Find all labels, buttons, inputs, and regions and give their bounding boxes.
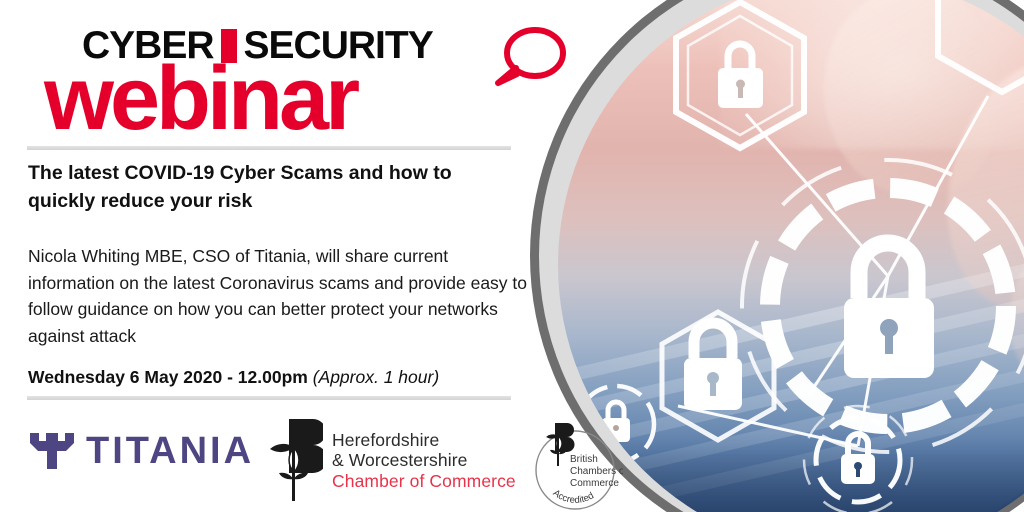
titania-logo: TITANIA bbox=[29, 430, 254, 472]
bcc-accredited-text: Accredited bbox=[551, 488, 596, 506]
body-description: Nicola Whiting MBE, CSO of Titania, will… bbox=[28, 243, 528, 349]
event-datetime: Wednesday 6 May 2020 - 12.00pm (Approx. … bbox=[28, 366, 528, 389]
bcc-line-3: Commerce bbox=[570, 478, 619, 489]
webinar-word: webinar bbox=[44, 54, 356, 144]
padlock-hexagon-lower-icon bbox=[662, 312, 774, 440]
chamber-b-leaf-mark bbox=[267, 417, 323, 501]
chamber-line-1: Herefordshire bbox=[332, 430, 516, 450]
bcc-line-2: Chambers of bbox=[570, 466, 623, 477]
webinar-banner: CYBER SECURITY webinar The latest COVID-… bbox=[0, 0, 1024, 512]
security-icons-overlay bbox=[558, 0, 1024, 512]
content-panel: CYBER SECURITY webinar The latest COVID-… bbox=[0, 0, 565, 512]
webinar-logo-lockup: CYBER SECURITY webinar bbox=[27, 18, 527, 143]
padlock-hexagon-top-icon bbox=[938, 0, 1024, 92]
event-date-main: Wednesday 6 May 2020 - 12.00pm bbox=[28, 367, 308, 387]
divider-top bbox=[27, 146, 511, 150]
speech-bubble-icon bbox=[493, 26, 567, 88]
chamber-line-3: Chamber of Commerce bbox=[332, 471, 516, 491]
chamber-wordmark: Herefordshire & Worcestershire Chamber o… bbox=[332, 417, 516, 491]
divider-bottom bbox=[27, 396, 511, 400]
bcc-accredited-badge: British Chambers of Commerce Accredited bbox=[527, 418, 623, 512]
chamber-line-2: & Worcestershire bbox=[332, 450, 516, 470]
bcc-line-1: British bbox=[570, 454, 598, 465]
laptop-photo bbox=[558, 0, 1024, 512]
event-duration: (Approx. 1 hour) bbox=[313, 367, 439, 387]
padlock-hexagon-icon bbox=[676, 2, 804, 148]
partner-logos: TITANIA Herefordshire & Worcestershire C bbox=[27, 412, 607, 504]
chamber-logo: Herefordshire & Worcestershire Chamber o… bbox=[267, 417, 516, 501]
titania-wordmark: TITANIA bbox=[86, 432, 254, 470]
page-title: The latest COVID-19 Cyber Scams and how … bbox=[28, 160, 498, 215]
padlock-circle-large-icon bbox=[742, 160, 1024, 452]
titania-shield-t-mark bbox=[29, 430, 75, 472]
